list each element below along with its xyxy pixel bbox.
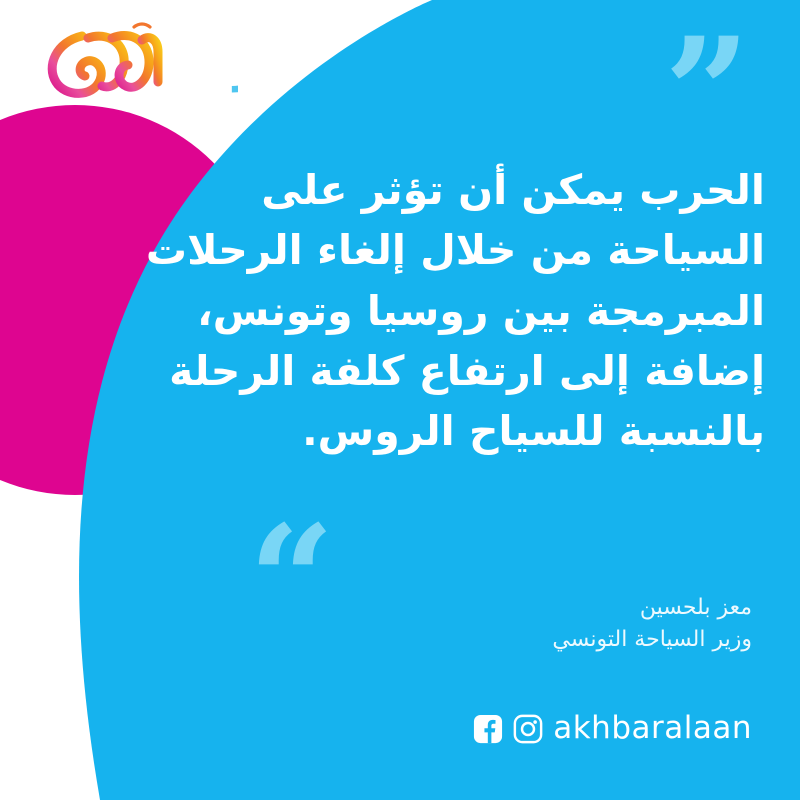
attribution-title: وزير السياحة التونسي (552, 624, 752, 656)
quote-line: الحرب يمكن أن تؤثر على (145, 160, 765, 220)
facebook-icon[interactable] (473, 714, 503, 744)
social-bar: akhbaralaan (473, 713, 752, 744)
social-handle[interactable]: akhbaralaan (553, 713, 752, 744)
quote-line: السياحة من خلال إلغاء الرحلات (145, 220, 765, 280)
logo-madda-accent (134, 24, 150, 27)
attribution-name: معز بلحسين (552, 592, 752, 624)
opening-quote-mark: ” (664, 18, 750, 168)
quote-card: أخبار ” ” الحرب يمكن أن تؤثر على السياحة… (0, 0, 800, 800)
attribution: معز بلحسين وزير السياحة التونسي (552, 592, 752, 656)
quote-line: إضافة إلى ارتفاع كلفة الرحلة (145, 341, 765, 401)
logo-swirl-icon (52, 36, 158, 94)
quote-text: الحرب يمكن أن تؤثر على السياحة من خلال إ… (145, 160, 765, 461)
quote-line: بالنسبة للسياح الروس. (145, 401, 765, 461)
quote-line: المبرمجة بين روسيا وتونس، (145, 281, 765, 341)
instagram-icon[interactable] (513, 714, 543, 744)
akhbar-al-aan-logo[interactable]: أخبار (38, 18, 238, 106)
logo-word-akhbar: أخبار (231, 28, 238, 93)
